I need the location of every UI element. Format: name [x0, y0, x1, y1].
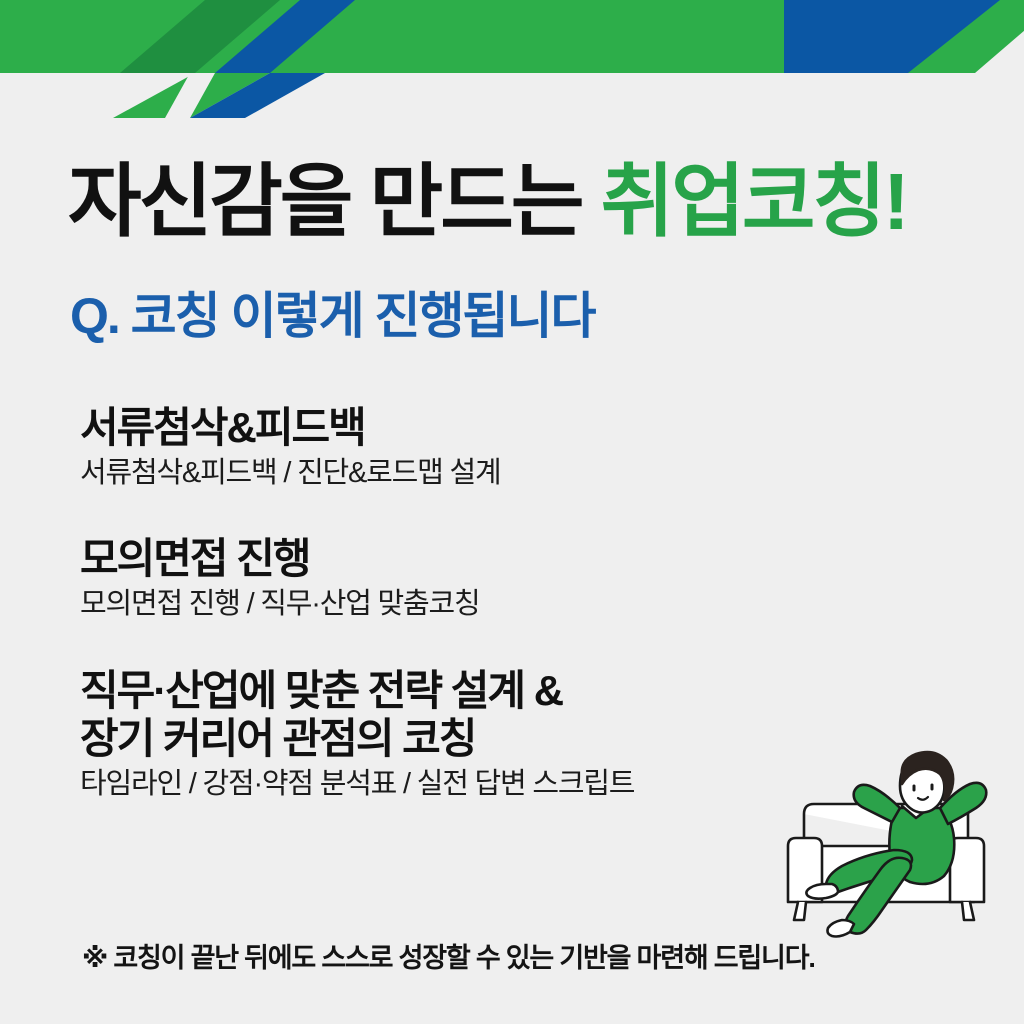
person-shoe-back [806, 884, 838, 899]
person-relaxing-on-sofa-illustration [784, 742, 1020, 938]
title-block: 자신감을 만드는 취업코칭! [68, 162, 968, 242]
step-description: 서류첨삭&피드백 / 진단&로드맵 설계 [80, 456, 940, 491]
subtitle-block: Q. 코칭 이렇게 진행됩니다 [70, 290, 970, 343]
footer-note: ※ 코칭이 끝난 뒤에도 스스로 성장할 수 있는 기반을 마련해 드립니다. [82, 942, 815, 974]
step-title-line: 모의면접 진행 [80, 535, 940, 583]
step-description: 모의면접 진행 / 직무·산업 맞춤코칭 [80, 587, 940, 622]
poster-canvas: 자신감을 만드는 취업코칭! Q. 코칭 이렇게 진행됩니다 서류첨삭&피드백 … [0, 0, 1024, 1024]
page-title: 자신감을 만드는 취업코칭! [68, 162, 968, 242]
sofa-leg-right [962, 902, 974, 920]
page-title-accent: 취업코칭! [601, 157, 907, 246]
header-banner [0, 0, 1024, 125]
page-title-dark: 자신감을 만드는 [68, 157, 601, 246]
step-title: 서류첨삭&피드백 [80, 404, 940, 452]
step-title: 모의면접 진행 [80, 535, 940, 583]
page-subtitle: Q. 코칭 이렇게 진행됩니다 [70, 290, 970, 343]
person-shoe-front [828, 920, 855, 937]
step-item: 모의면접 진행 모의면접 진행 / 직무·산업 맞춤코칭 [80, 535, 940, 622]
step-title-line: 직무·산업에 맞춘 전략 설계 & [80, 667, 940, 715]
step-item: 서류첨삭&피드백 서류첨삭&피드백 / 진단&로드맵 설계 [80, 404, 940, 491]
step-title-line: 서류첨삭&피드백 [80, 404, 940, 452]
sofa-leg-left [794, 902, 806, 920]
